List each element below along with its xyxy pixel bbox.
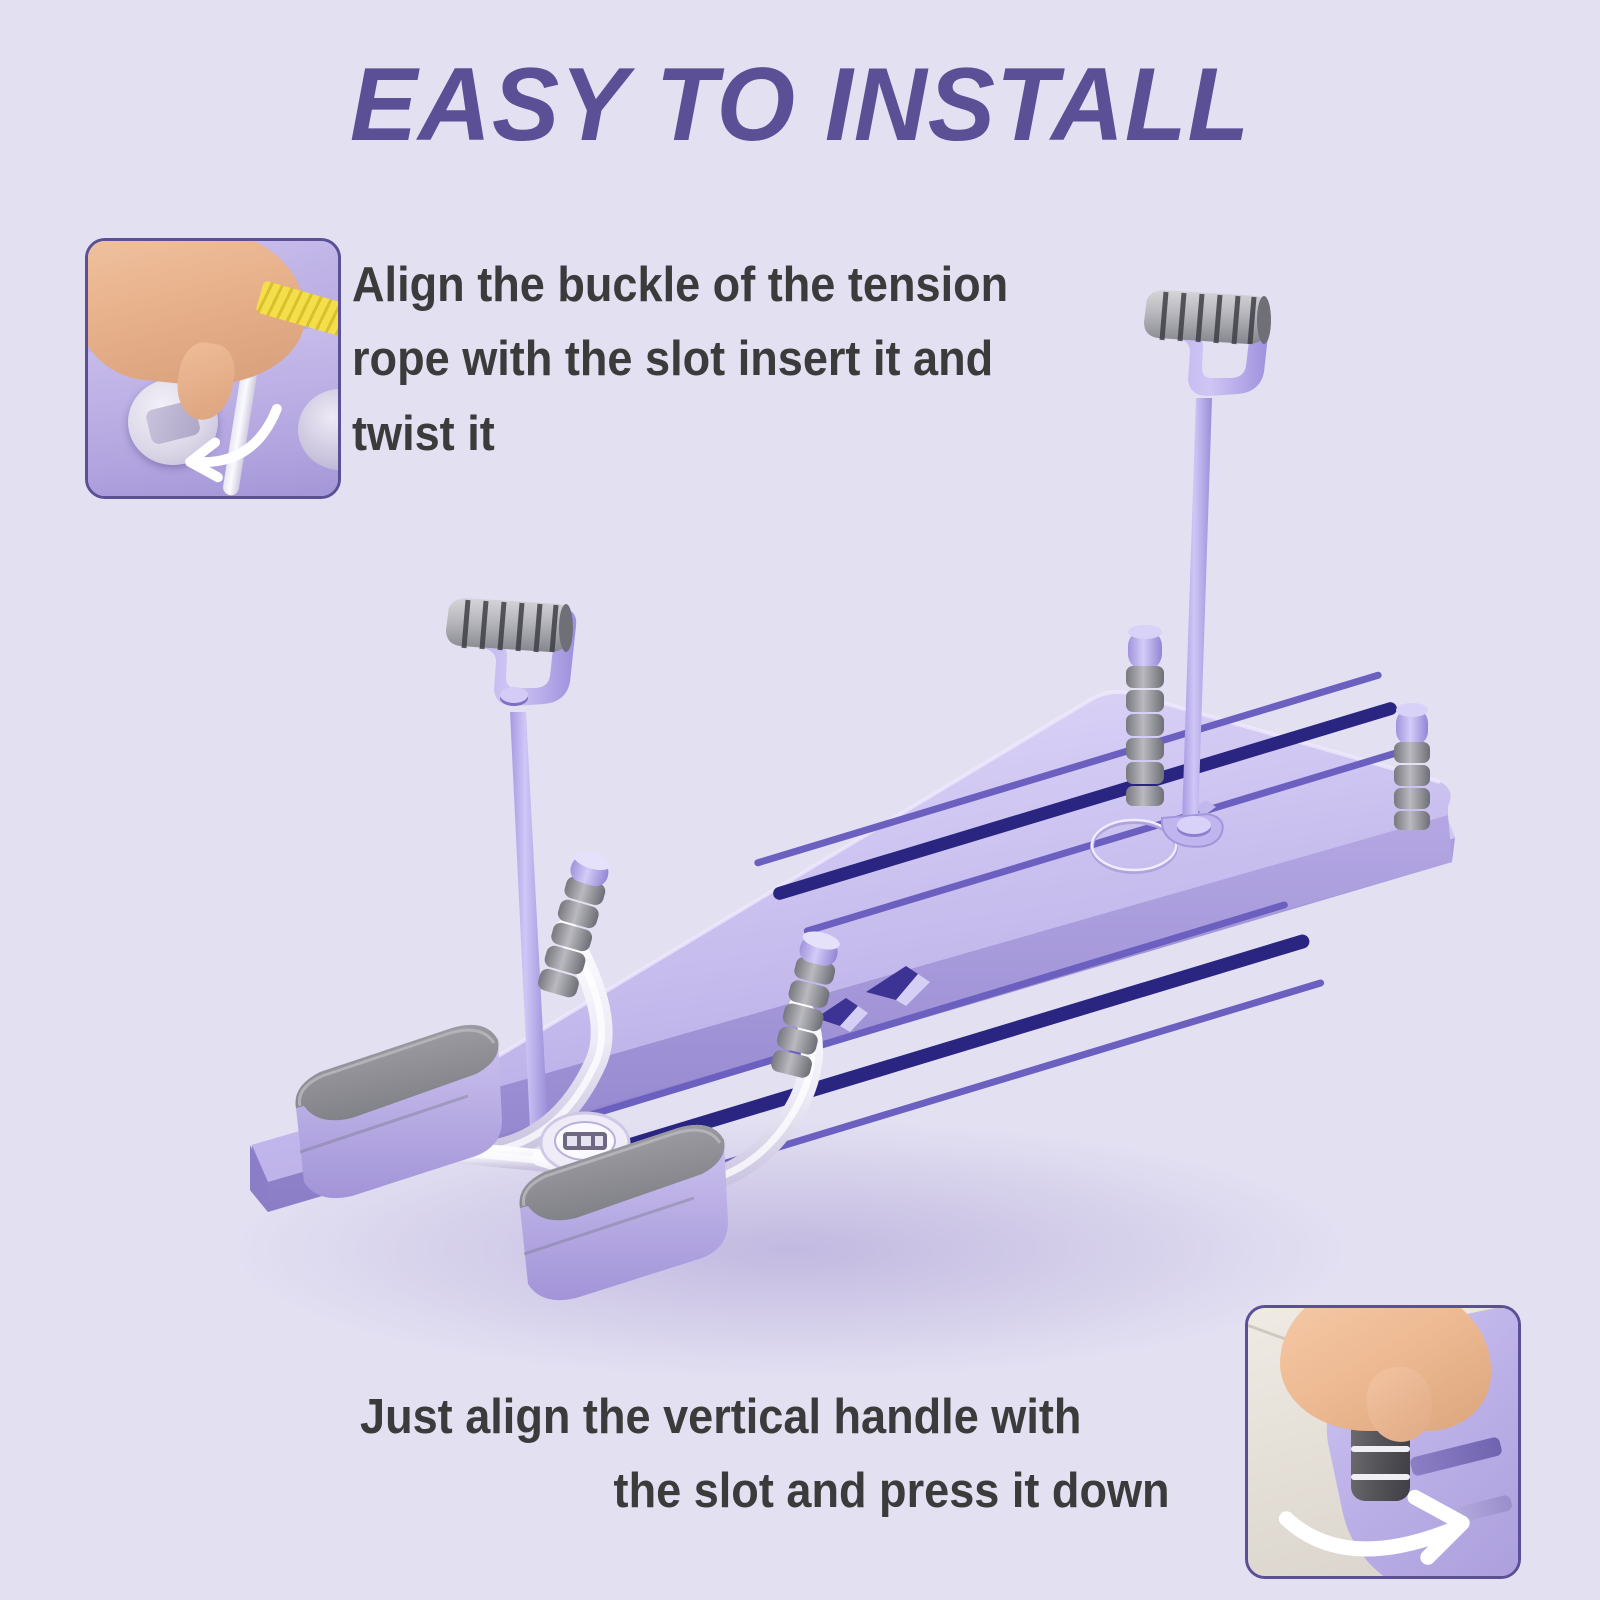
step-top-line-2: rope with the slot insert it and bbox=[352, 322, 1088, 396]
step-bottom-line-1: Just align the vertical handle with bbox=[360, 1380, 1170, 1454]
curved-arrow-right-icon bbox=[1270, 1463, 1491, 1570]
step-bottom-line-2: the slot and press it down bbox=[360, 1454, 1170, 1528]
vertical-post-left[interactable] bbox=[1126, 625, 1164, 806]
hand-inserting-tension-rope-thumbnail[interactable] bbox=[85, 238, 341, 499]
step-bottom-instruction: Just align the vertical handle with the … bbox=[360, 1380, 1170, 1529]
step-top-instruction: Align the buckle of the tension rope wit… bbox=[352, 248, 1088, 471]
curved-arrow-left-icon bbox=[148, 399, 288, 486]
hand-pressing-vertical-handle-thumbnail[interactable] bbox=[1245, 1305, 1521, 1579]
infographic-canvas: EASY TO INSTALL bbox=[0, 0, 1600, 1600]
step-top-line-3: twist it bbox=[352, 397, 1088, 471]
step-top-line-1: Align the buckle of the tension bbox=[352, 248, 1088, 322]
